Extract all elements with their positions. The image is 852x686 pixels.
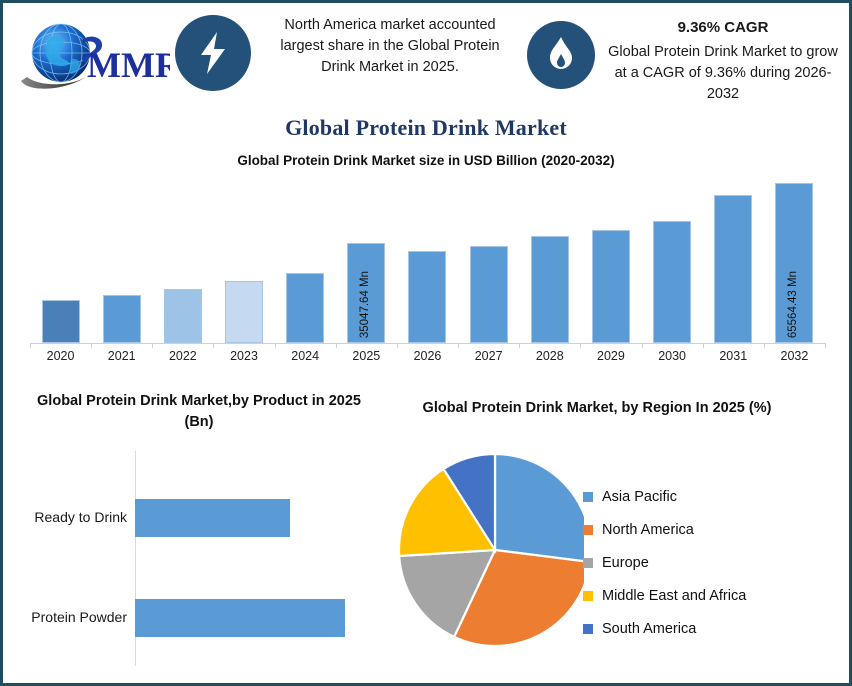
axis-tick (30, 343, 31, 348)
hbar-ready-to-drink (135, 499, 290, 537)
axis-tick (703, 343, 704, 348)
bar-column (580, 175, 641, 343)
north-america-callout: North America market accounted largest s… (265, 15, 515, 78)
axis-tick (91, 343, 92, 348)
bar-2020 (42, 300, 80, 343)
x-axis-label-2025: 2025 (336, 349, 397, 363)
pie-chart-graphic (399, 450, 584, 650)
axis-tick (152, 343, 153, 348)
bar-column (152, 175, 213, 343)
legend-swatch-icon (583, 525, 593, 535)
legend-label: Europe (602, 555, 649, 571)
bar-2031 (714, 195, 752, 343)
mmr-logo-graphic: MMR (15, 15, 170, 100)
bar-2029 (592, 230, 630, 343)
bar-chart-axis-line (30, 343, 825, 344)
legend-swatch-icon (583, 591, 593, 601)
bar-column (213, 175, 274, 343)
axis-tick (764, 343, 765, 348)
mmr-logo: MMR (15, 15, 170, 100)
bar-2032: 65564.43 Mn (775, 183, 813, 343)
lightning-bolt-icon (175, 15, 251, 91)
bar-column (397, 175, 458, 343)
bar-value-label: 35047.64 Mn (359, 271, 371, 338)
bar-column (275, 175, 336, 343)
cagr-value: 9.36% CAGR (603, 17, 843, 39)
bar-2026 (408, 251, 446, 343)
hbar-chart-plot (135, 451, 375, 666)
bar-2030 (653, 221, 691, 343)
hbar-chart-title: Global Protein Drink Market,by Product i… (21, 391, 377, 433)
infographic-page: MMR North America market accounted large… (0, 0, 852, 686)
bar-column (642, 175, 703, 343)
x-axis-label-2030: 2030 (642, 349, 703, 363)
bar-column (458, 175, 519, 343)
by-region-pie-chart: Global Protein Drink Market, by Region I… (387, 398, 851, 683)
x-axis-label-2026: 2026 (397, 349, 458, 363)
axis-tick (825, 343, 826, 348)
bar-value-label: 65564.43 Mn (787, 271, 799, 338)
legend-item-asia-pacific: Asia Pacific (583, 480, 833, 513)
flame-icon (527, 21, 595, 89)
x-axis-label-2031: 2031 (703, 349, 764, 363)
bar-2022 (164, 289, 202, 343)
by-product-bar-chart: Global Protein Drink Market,by Product i… (7, 391, 387, 681)
bar-2028 (531, 236, 569, 343)
axis-tick (580, 343, 581, 348)
axis-tick (397, 343, 398, 348)
cagr-description: Global Protein Drink Market to grow at a… (608, 44, 838, 102)
bar-column: 65564.43 Mn (764, 175, 825, 343)
x-axis-label-2028: 2028 (519, 349, 580, 363)
x-axis-label-2023: 2023 (213, 349, 274, 363)
bar-column (703, 175, 764, 343)
axis-tick (458, 343, 459, 348)
page-title: Global Protein Drink Market (3, 115, 849, 141)
x-axis-label-2020: 2020 (30, 349, 91, 363)
market-size-bar-chart: Global Protein Drink Market size in USD … (3, 153, 849, 368)
bar-column (91, 175, 152, 343)
bar-column (30, 175, 91, 343)
axis-tick (213, 343, 214, 348)
bar-2024 (286, 273, 324, 343)
cagr-callout: 9.36% CAGR Global Protein Drink Market t… (603, 17, 843, 105)
hbar-protein-powder (135, 599, 345, 637)
legend-label: South America (602, 621, 696, 637)
axis-tick (519, 343, 520, 348)
bar-column: 35047.64 Mn (336, 175, 397, 343)
mmr-logo-text: MMR (87, 45, 170, 85)
x-axis-label-2032: 2032 (764, 349, 825, 363)
bar-column (519, 175, 580, 343)
legend-item-middle-east-and-africa: Middle East and Africa (583, 579, 833, 612)
legend-item-europe: Europe (583, 546, 833, 579)
legend-swatch-icon (583, 624, 593, 634)
bar-2027 (470, 246, 508, 343)
legend-swatch-icon (583, 492, 593, 502)
header: MMR North America market accounted large… (3, 3, 849, 113)
x-axis-label-2022: 2022 (152, 349, 213, 363)
axis-tick (336, 343, 337, 348)
axis-tick (642, 343, 643, 348)
bar-2025: 35047.64 Mn (347, 243, 385, 343)
legend-swatch-icon (583, 558, 593, 568)
pie-chart-legend: Asia PacificNorth AmericaEuropeMiddle Ea… (583, 480, 833, 645)
x-axis-label-2027: 2027 (458, 349, 519, 363)
bar-2021 (103, 295, 141, 343)
legend-item-south-america: South America (583, 612, 833, 645)
pie-chart-title: Global Protein Drink Market, by Region I… (387, 398, 807, 419)
hbar-label-protein-powder: Protein Powder (31, 609, 127, 625)
x-axis-label-2024: 2024 (275, 349, 336, 363)
bar-chart-plot: 35047.64 Mn65564.43 Mn (30, 175, 825, 343)
hbar-label-ready-to-drink: Ready to Drink (34, 509, 127, 525)
axis-tick (275, 343, 276, 348)
legend-item-north-america: North America (583, 513, 833, 546)
bar-2023 (225, 281, 263, 343)
legend-label: Asia Pacific (602, 489, 677, 505)
x-axis-label-2021: 2021 (91, 349, 152, 363)
x-axis-label-2029: 2029 (580, 349, 641, 363)
legend-label: North America (602, 522, 694, 538)
bar-chart-title: Global Protein Drink Market size in USD … (3, 153, 849, 168)
legend-label: Middle East and Africa (602, 588, 746, 604)
pie-slice-asia-pacific (495, 454, 584, 562)
